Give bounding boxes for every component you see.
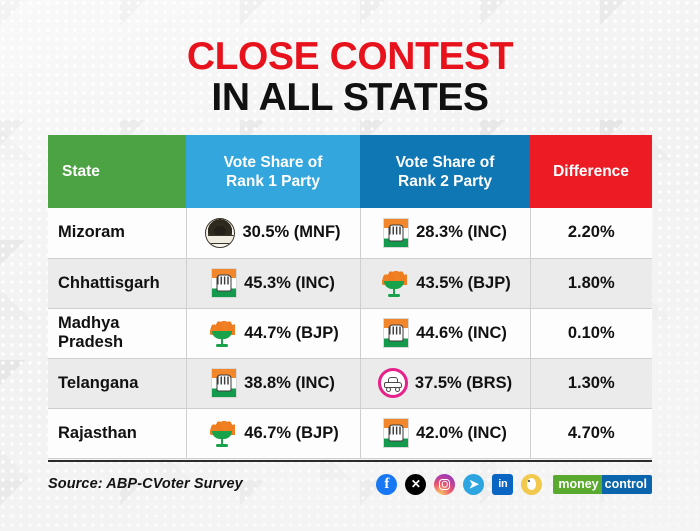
- cell-rank1: 45.3% (INC): [186, 258, 360, 308]
- table-row: Chhattisgarh 45.3% (INC) 43.5% (BJP): [48, 258, 652, 308]
- table-row: Rajasthan 46.7% (BJP) 42.0% (INC): [48, 408, 652, 458]
- column-header-state: State: [48, 135, 186, 208]
- page-title: Close Contest In All States: [0, 0, 700, 118]
- bjp-logo: [207, 318, 237, 348]
- column-header-rank2: Vote Share of Rank 2 Party: [360, 135, 530, 208]
- cell-difference: 1.80%: [530, 258, 652, 308]
- infographic-page: Close Contest In All States State Vote S…: [0, 0, 700, 531]
- table-row: Madhya Pradesh 44.7% (BJP) 44.6% (INC): [48, 308, 652, 358]
- results-table: State Vote Share of Rank 1 Party Vote Sh…: [48, 135, 652, 459]
- inc-logo: [383, 218, 409, 248]
- bjp-logo: [379, 268, 409, 298]
- social-links: f ✕ ➤ in moneycontrol: [376, 474, 652, 495]
- cell-difference: 4.70%: [530, 408, 652, 458]
- column-header-rank1-line1: Vote Share of: [224, 154, 323, 171]
- cell-state: Telangana: [48, 358, 186, 408]
- moneycontrol-logo-money: money: [553, 475, 601, 494]
- table-body: Mizoram 30.5% (MNF) 28.3% (INC) 2.20: [48, 208, 652, 458]
- cell-state: Mizoram: [48, 208, 186, 258]
- cell-state: Rajasthan: [48, 408, 186, 458]
- results-table-container: State Vote Share of Rank 1 Party Vote Sh…: [48, 135, 652, 459]
- rank1-value: 44.7% (BJP): [244, 324, 338, 343]
- cell-difference: 0.10%: [530, 308, 652, 358]
- cell-difference: 1.30%: [530, 358, 652, 408]
- cell-rank1: 38.8% (INC): [186, 358, 360, 408]
- cell-state: Madhya Pradesh: [48, 308, 186, 358]
- cell-difference: 2.20%: [530, 208, 652, 258]
- footer: Source: ABP-CVoter Survey f ✕ ➤ in money…: [48, 460, 652, 500]
- table-header: State Vote Share of Rank 1 Party Vote Sh…: [48, 135, 652, 208]
- instagram-icon[interactable]: [434, 474, 455, 495]
- koo-icon[interactable]: [521, 474, 542, 495]
- column-header-rank2-line2: Rank 2 Party: [398, 173, 492, 190]
- moneycontrol-logo-control: control: [602, 475, 652, 494]
- rank2-value: 43.5% (BJP): [416, 274, 510, 293]
- column-header-rank1: Vote Share of Rank 1 Party: [186, 135, 360, 208]
- cell-rank2: 37.5% (BRS): [360, 358, 530, 408]
- cell-rank2: 42.0% (INC): [360, 408, 530, 458]
- cell-rank2: 28.3% (INC): [360, 208, 530, 258]
- column-header-rank1-line2: Rank 1 Party: [226, 173, 320, 190]
- inc-logo: [211, 368, 237, 398]
- mnf-logo: [205, 218, 235, 248]
- inc-logo: [211, 268, 237, 298]
- cell-state: Chhattisgarh: [48, 258, 186, 308]
- title-line-1: Close Contest: [0, 36, 700, 78]
- rank2-value: 28.3% (INC): [416, 223, 507, 242]
- rank2-value: 37.5% (BRS): [415, 374, 512, 393]
- title-line-2: In All States: [0, 78, 700, 118]
- cell-rank1: 30.5% (MNF): [186, 208, 360, 258]
- column-header-difference: Difference: [530, 135, 652, 208]
- brs-logo: [378, 368, 408, 398]
- facebook-icon[interactable]: f: [376, 474, 397, 495]
- rank2-value: 44.6% (INC): [416, 324, 507, 343]
- x-twitter-icon[interactable]: ✕: [405, 474, 426, 495]
- cell-rank1: 46.7% (BJP): [186, 408, 360, 458]
- table-header-row: State Vote Share of Rank 1 Party Vote Sh…: [48, 135, 652, 208]
- linkedin-icon[interactable]: in: [492, 474, 513, 495]
- cell-rank2: 43.5% (BJP): [360, 258, 530, 308]
- telegram-icon[interactable]: ➤: [463, 474, 484, 495]
- table-row: Mizoram 30.5% (MNF) 28.3% (INC) 2.20: [48, 208, 652, 258]
- moneycontrol-logo[interactable]: moneycontrol: [553, 475, 652, 494]
- rank1-value: 46.7% (BJP): [244, 424, 338, 443]
- rank1-value: 38.8% (INC): [244, 374, 335, 393]
- bjp-logo: [207, 418, 237, 448]
- column-header-rank2-line1: Vote Share of: [396, 154, 495, 171]
- cell-rank1: 44.7% (BJP): [186, 308, 360, 358]
- cell-rank2: 44.6% (INC): [360, 308, 530, 358]
- source-label: Source: ABP-CVoter Survey: [48, 476, 243, 492]
- rank1-value: 45.3% (INC): [244, 274, 335, 293]
- table-row: Telangana 38.8% (INC) 37.5% (BRS): [48, 358, 652, 408]
- rank1-value: 30.5% (MNF): [242, 223, 340, 242]
- inc-logo: [383, 418, 409, 448]
- rank2-value: 42.0% (INC): [416, 424, 507, 443]
- inc-logo: [383, 318, 409, 348]
